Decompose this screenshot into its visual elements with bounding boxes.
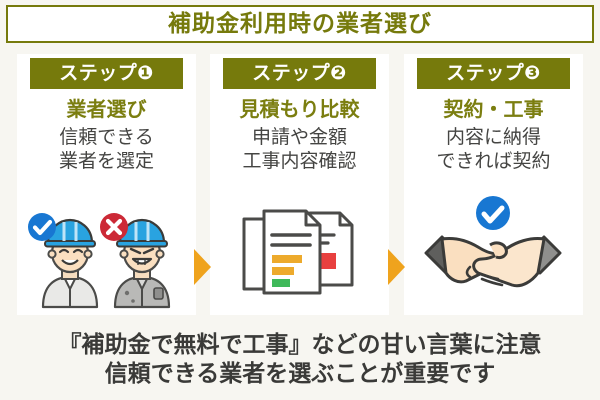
page-title: 補助金利用時の業者選び: [168, 13, 432, 36]
step-card-1: ステップ❶ 業者選び 信頼できる 業者を選定: [17, 54, 196, 315]
two-workers-check-and-cross-icon: [17, 189, 196, 309]
step-desc-3: 内容に納得 できれば契約: [404, 126, 583, 174]
step-icon-2: [210, 189, 389, 309]
step-icon-1: [17, 189, 196, 309]
step-desc-line2-2: 工事内容確認: [210, 150, 389, 174]
step-desc-line1-3: 内容に納得: [404, 126, 583, 150]
arrow-right-triangle-icon-2: [388, 249, 405, 285]
step-desc-2: 申請や金額 工事内容確認: [210, 126, 389, 174]
step-title-1: 業者選び: [17, 98, 196, 120]
step-badge-label-3: ステップ❸: [446, 64, 541, 83]
arrow-right-triangle-icon-1: [194, 249, 211, 285]
step-desc-line1-2: 申請や金額: [210, 126, 389, 150]
step-desc-1: 信頼できる 業者を選定: [17, 126, 196, 174]
infographic-root: 補助金利用時の業者選び ステップ❶ 業者選び 信頼できる 業者を選定: [0, 0, 600, 400]
step-title-2: 見積もり比較: [210, 98, 389, 120]
step-badge-label-1: ステップ❶: [59, 64, 154, 83]
step-badge-label-2: ステップ❷: [252, 64, 347, 83]
footer-line-1: 『補助金で無料で工事』などの甘い言葉に注意: [59, 331, 542, 360]
step-badge-3: ステップ❸: [417, 58, 570, 89]
step-desc-line2-3: できれば契約: [404, 150, 583, 174]
handshake-check-icon: [404, 189, 583, 309]
step-icon-3: [404, 189, 583, 309]
step-desc-line1-1: 信頼できる: [17, 126, 196, 150]
step-badge-2: ステップ❷: [223, 58, 376, 89]
steps-row: ステップ❶ 業者選び 信頼できる 業者を選定: [0, 54, 600, 316]
documents-stack-icon: [210, 189, 389, 309]
footer-note: 『補助金で無料で工事』などの甘い言葉に注意 信頼できる業者を選ぶことが重要です: [0, 320, 600, 400]
step-card-3: ステップ❸ 契約・工事 内容に納得 できれば契約: [404, 54, 583, 315]
step-title-3: 契約・工事: [404, 98, 583, 120]
step-desc-line2-1: 業者を選定: [17, 150, 196, 174]
page-title-box: 補助金利用時の業者選び: [6, 5, 594, 43]
footer-line-2: 信頼できる業者を選ぶことが重要です: [105, 360, 496, 389]
step-card-2: ステップ❷ 見積もり比較 申請や金額 工事内容確認: [210, 54, 389, 315]
step-badge-1: ステップ❶: [30, 58, 183, 89]
